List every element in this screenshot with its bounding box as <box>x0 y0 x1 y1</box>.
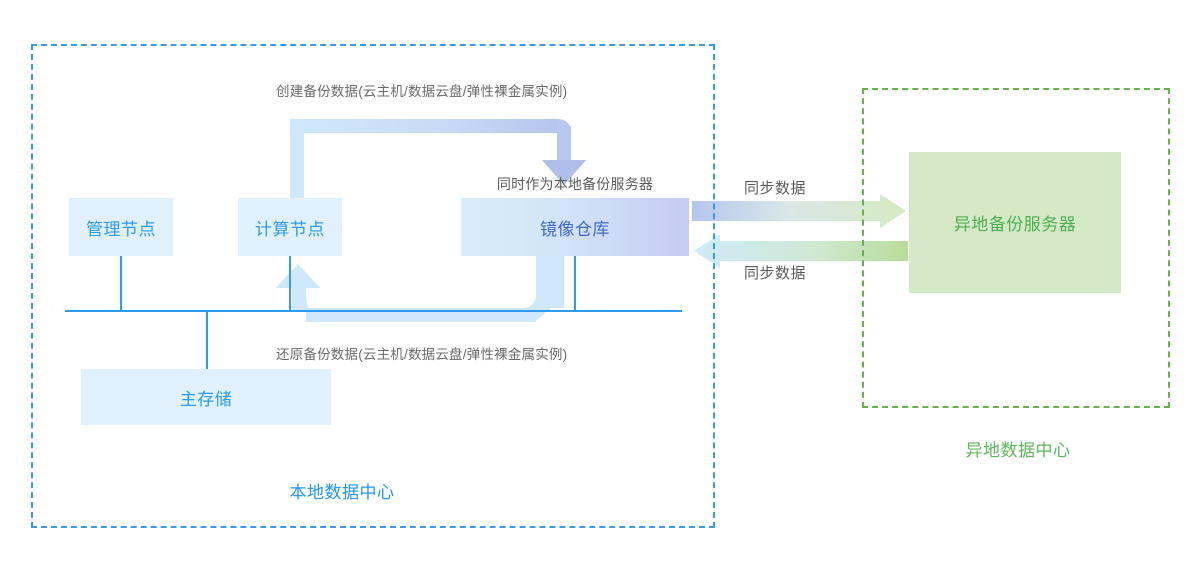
node-image-registry[interactable]: 镜像仓库 <box>461 198 689 256</box>
sync-out-label: 同步数据 <box>744 177 806 198</box>
node-compute[interactable]: 计算节点 <box>238 198 342 256</box>
zone-local-data-center <box>31 44 715 528</box>
restore-backup-label: 还原备份数据(云主机/数据云盘/弹性裸金属实例) <box>276 343 567 363</box>
diagram-canvas: 本地数据中心 异地数据中心 管理节点 计算节点 同时作为本地备份服务器 镜像仓库… <box>0 0 1200 575</box>
registry-note-label: 同时作为本地备份服务器 <box>461 174 689 194</box>
zone-local-data-center-label: 本地数据中心 <box>0 478 684 503</box>
create-backup-label: 创建备份数据(云主机/数据云盘/弹性裸金属实例) <box>276 80 567 100</box>
node-remote-backup-server[interactable]: 异地备份服务器 <box>909 152 1121 293</box>
sync-in-label: 同步数据 <box>744 262 806 283</box>
zone-remote-data-center-label: 异地数据中心 <box>864 436 1172 461</box>
node-primary-storage[interactable]: 主存储 <box>81 369 331 425</box>
node-management[interactable]: 管理节点 <box>69 198 173 256</box>
